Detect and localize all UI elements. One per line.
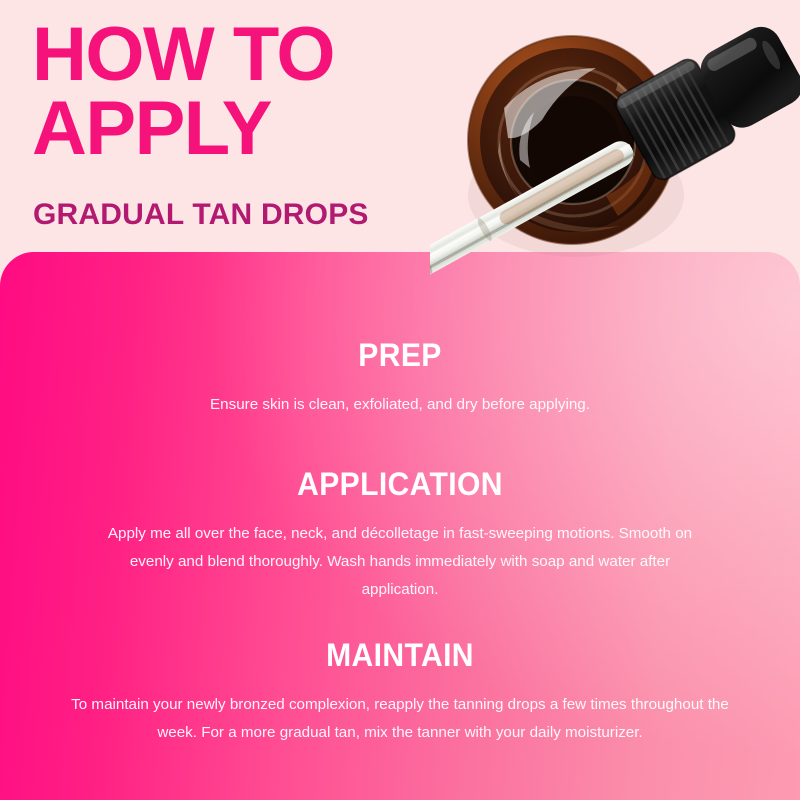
section-prep: PREP Ensure skin is clean, exfoliated, a… <box>0 336 800 419</box>
section-body-prep: Ensure skin is clean, exfoliated, and dr… <box>90 391 710 419</box>
title-line-2: APPLY <box>32 92 462 166</box>
section-heading-prep: PREP <box>24 336 776 374</box>
section-body-application: Apply me all over the face, neck, and dé… <box>90 520 710 604</box>
instructions-panel: PREP Ensure skin is clean, exfoliated, a… <box>0 252 800 800</box>
page-title: HOW TO APPLY <box>32 18 462 166</box>
section-heading-application: APPLICATION <box>24 465 776 503</box>
section-maintain: MAINTAIN To maintain your newly bronzed … <box>0 636 800 747</box>
title-line-1: HOW TO <box>32 18 462 92</box>
header-region: HOW TO APPLY GRADUAL TAN DROPS <box>0 0 800 260</box>
section-heading-maintain: MAINTAIN <box>24 636 776 674</box>
page-subtitle: GRADUAL TAN DROPS <box>33 198 369 232</box>
section-body-maintain: To maintain your newly bronzed complexio… <box>60 691 740 747</box>
section-application: APPLICATION Apply me all over the face, … <box>0 465 800 604</box>
poster-root: HOW TO APPLY GRADUAL TAN DROPS <box>0 0 800 800</box>
